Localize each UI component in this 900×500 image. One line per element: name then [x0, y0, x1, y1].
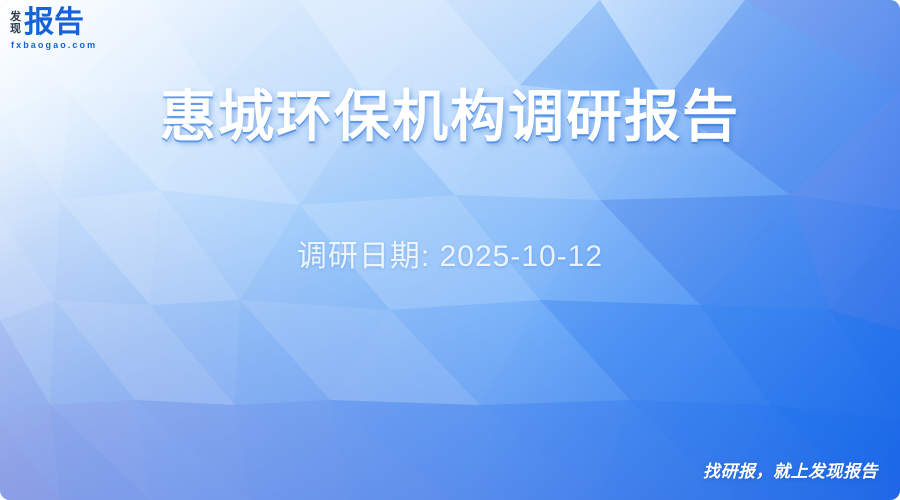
logo-main-text: 报告	[24, 8, 84, 38]
logo-domain-text: fxbaogao.com	[11, 41, 97, 50]
logo-wordmark: 发 现 报告	[10, 8, 84, 38]
title-block: 惠城环保机构调研报告	[0, 86, 900, 149]
logo-char-xian: 现	[10, 24, 21, 36]
logo-stacked-characters: 发 现	[10, 11, 21, 36]
footer-slogan: 找研报，就上发现报告	[703, 457, 878, 482]
logo-char-fa: 发	[10, 12, 21, 24]
survey-date-subtitle: 调研日期: 2025-10-12	[0, 231, 900, 275]
brand-logo[interactable]: 发 现 报告 fxbaogao.com	[10, 8, 97, 50]
page-title: 惠城环保机构调研报告	[0, 86, 900, 149]
report-cover: 发 现 报告 fxbaogao.com 惠城环保机构调研报告 调研日期: 202…	[0, 0, 900, 500]
